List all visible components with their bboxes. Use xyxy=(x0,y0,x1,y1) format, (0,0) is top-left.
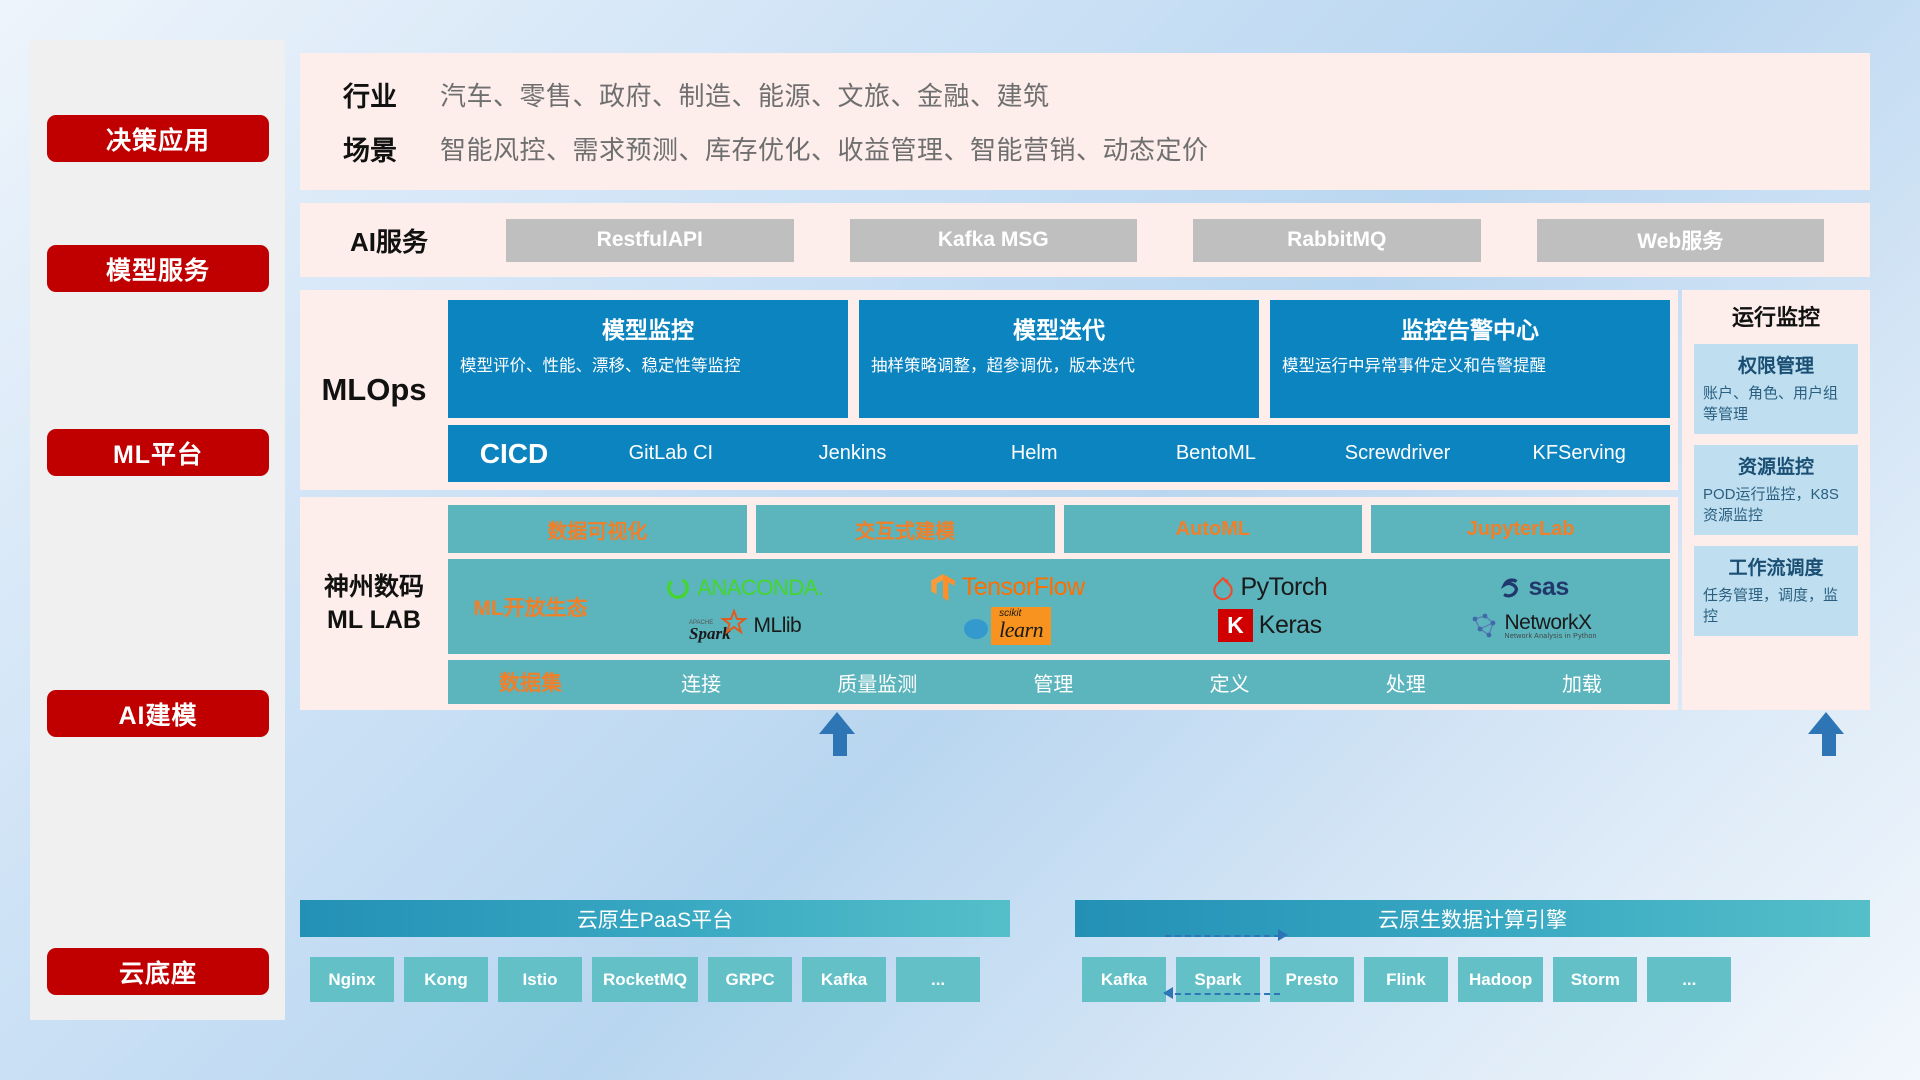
cloud-paas-header: 云原生PaaS平台 xyxy=(300,900,1010,937)
paas-chip-kafka[interactable]: Kafka xyxy=(802,957,886,1002)
paas-chip-rocketmq[interactable]: RocketMQ xyxy=(592,957,698,1002)
card-desc: POD运行监控，K8S资源监控 xyxy=(1703,484,1849,526)
data-chip-presto[interactable]: Presto xyxy=(1270,957,1354,1002)
monitor-card-resource[interactable]: 资源监控 POD运行监控，K8S资源监控 xyxy=(1694,445,1858,535)
dashed-arrow-right xyxy=(1165,935,1280,937)
data-chip-kafka[interactable]: Kafka xyxy=(1082,957,1166,1002)
paas-chip-more[interactable]: ... xyxy=(896,957,980,1002)
rail-item-ml-platform[interactable]: ML平台 xyxy=(47,429,269,476)
industry-scenario-band: 行业 汽车、零售、政府、制造、能源、文旅、金融、建筑 场景 智能风控、需求预测、… xyxy=(300,53,1870,190)
monitor-card-workflow[interactable]: 工作流调度 任务管理，调度，监控 xyxy=(1694,546,1858,636)
mlops-band: MLOps 模型监控 模型评价、性能、漂移、稳定性等监控 模型迭代 抽样策略调整… xyxy=(300,290,1678,490)
card-desc: 抽样策略调整，超参调优，版本迭代 xyxy=(871,355,1247,378)
cicd-item-helm[interactable]: Helm xyxy=(943,439,1125,468)
card-desc: 模型评价、性能、漂移、稳定性等监控 xyxy=(460,355,836,378)
rail-item-model-service[interactable]: 模型服务 xyxy=(47,245,269,292)
cicd-item-gitlab-ci[interactable]: GitLab CI xyxy=(580,439,762,468)
arrow-up-paas-icon xyxy=(819,712,855,734)
sas-logo-text: sas xyxy=(1529,573,1569,602)
paas-chip-nginx[interactable]: Nginx xyxy=(310,957,394,1002)
ml-ecosystem-label: ML开放生态 xyxy=(448,592,613,622)
dataset-item-manage[interactable]: 管理 xyxy=(965,668,1141,697)
paas-chip-grpc[interactable]: GRPC xyxy=(708,957,792,1002)
cloud-base-section: 云原生PaaS平台 云原生数据计算引擎 Nginx Kong Istio Roc… xyxy=(300,880,1900,1080)
card-title: 资源监控 xyxy=(1703,452,1849,479)
mlops-card-model-monitoring[interactable]: 模型监控 模型评价、性能、漂移、稳定性等监控 xyxy=(448,300,848,418)
rail-label: 云底座 xyxy=(119,954,197,990)
scikit-learn-logo: scikit learn xyxy=(963,607,1051,645)
data-chip-spark[interactable]: Spark xyxy=(1176,957,1260,1002)
ml-lab-body: 数据可视化 交互式建模 AutoML JupyterLab ML开放生态 ANA… xyxy=(448,497,1678,710)
main-content: 行业 汽车、零售、政府、制造、能源、文旅、金融、建筑 场景 智能风控、需求预测、… xyxy=(300,0,1900,1080)
industry-key: 行业 xyxy=(300,75,440,114)
ml-ecosystem-panel: ML开放生态 ANACONDA. TensorFlow xyxy=(448,559,1670,654)
dataset-bar: 数据集 连接 质量监测 管理 定义 处理 加载 xyxy=(448,660,1670,704)
card-desc: 账户、角色、用户组等管理 xyxy=(1703,383,1849,425)
mllib-logo-text: MLlib xyxy=(754,614,802,638)
dataset-item-process[interactable]: 处理 xyxy=(1318,668,1494,697)
cicd-item-kfserving[interactable]: KFServing xyxy=(1488,439,1670,468)
card-title: 权限管理 xyxy=(1703,351,1849,378)
spark-mllib-logo: APACHE Spark MLlib xyxy=(688,609,802,643)
ml-ecosystem-logo-grid: ANACONDA. TensorFlow xyxy=(613,569,1670,645)
keras-logo: K Keras xyxy=(1218,609,1321,642)
ml-lab-label: 神州数码 ML LAB xyxy=(300,497,448,710)
scenario-value: 智能风控、需求预测、库存优化、收益管理、智能营销、动态定价 xyxy=(440,130,1209,167)
left-rail: 决策应用 模型服务 ML平台 AI建模 云底座 xyxy=(30,40,285,1020)
ai-chip-rabbitmq[interactable]: RabbitMQ xyxy=(1193,219,1481,262)
mlops-card-model-iteration[interactable]: 模型迭代 抽样策略调整，超参调优，版本迭代 xyxy=(859,300,1259,418)
runtime-monitor-title: 运行监控 xyxy=(1694,300,1858,332)
anaconda-logo: ANACONDA. xyxy=(665,575,823,601)
lab-tool-automl[interactable]: AutoML xyxy=(1064,505,1363,553)
paas-chip-list: Nginx Kong Istio RocketMQ GRPC Kafka ... xyxy=(310,957,980,1002)
cicd-item-screwdriver[interactable]: Screwdriver xyxy=(1307,439,1489,468)
lab-tool-data-visualization[interactable]: 数据可视化 xyxy=(448,505,747,553)
lab-tool-jupyterlab[interactable]: JupyterLab xyxy=(1371,505,1670,553)
scenario-row: 场景 智能风控、需求预测、库存优化、收益管理、智能营销、动态定价 xyxy=(300,121,1870,175)
dataset-item-quality-monitor[interactable]: 质量监测 xyxy=(789,668,965,697)
card-title: 监控告警中心 xyxy=(1282,311,1658,345)
data-chip-more[interactable]: ... xyxy=(1647,957,1731,1002)
dashed-arrow-left xyxy=(1165,993,1280,995)
data-chip-flink[interactable]: Flink xyxy=(1364,957,1448,1002)
cicd-title: CICD xyxy=(448,438,580,470)
pytorch-logo: PyTorch xyxy=(1212,573,1327,602)
dataset-item-define[interactable]: 定义 xyxy=(1142,668,1318,697)
cicd-bar: CICD GitLab CI Jenkins Helm BentoML Scre… xyxy=(448,425,1670,482)
ai-chip-kafka-msg[interactable]: Kafka MSG xyxy=(850,219,1138,262)
arrow-up-data-engine-stem xyxy=(1822,732,1836,756)
scikit-learn-logo-text: learn xyxy=(999,617,1043,642)
card-desc: 任务管理，调度，监控 xyxy=(1703,585,1849,627)
rail-label: 决策应用 xyxy=(106,121,210,157)
card-desc: 模型运行中异常事件定义和告警提醒 xyxy=(1282,355,1658,378)
ai-chip-web-service[interactable]: Web服务 xyxy=(1537,219,1825,262)
arrow-up-paas-stem xyxy=(833,732,847,756)
dashed-arrow-left-head-icon xyxy=(1163,987,1173,999)
rail-item-cloud-base[interactable]: 云底座 xyxy=(47,948,269,995)
ai-chip-restfulapi[interactable]: RestfulAPI xyxy=(506,219,794,262)
scenario-key: 场景 xyxy=(300,129,440,168)
pytorch-logo-text: PyTorch xyxy=(1240,573,1327,602)
cicd-item-jenkins[interactable]: Jenkins xyxy=(762,439,944,468)
data-chip-hadoop[interactable]: Hadoop xyxy=(1458,957,1543,1002)
keras-logo-text: Keras xyxy=(1259,611,1322,640)
scikit-learn-logo-badge: scikit learn xyxy=(991,607,1051,645)
rail-label: 模型服务 xyxy=(106,251,210,287)
sas-logo: sas xyxy=(1497,573,1569,602)
industry-value: 汽车、零售、政府、制造、能源、文旅、金融、建筑 xyxy=(440,76,1050,113)
rail-label: ML平台 xyxy=(113,435,203,471)
anaconda-logo-text: ANACONDA. xyxy=(697,575,823,601)
paas-chip-kong[interactable]: Kong xyxy=(404,957,488,1002)
ml-lab-label-line2: ML LAB xyxy=(327,604,421,637)
networkx-logo-text: NetworkX xyxy=(1505,612,1597,633)
cloud-data-engine-header: 云原生数据计算引擎 xyxy=(1075,900,1870,937)
dataset-item-connect[interactable]: 连接 xyxy=(613,668,789,697)
ai-service-chip-list: RestfulAPI Kafka MSG RabbitMQ Web服务 xyxy=(478,219,1870,262)
svg-text:Spark: Spark xyxy=(689,624,731,643)
lab-tool-interactive-modeling[interactable]: 交互式建模 xyxy=(756,505,1055,553)
tensorflow-logo-text: TensorFlow xyxy=(962,573,1085,602)
monitor-card-permission[interactable]: 权限管理 账户、角色、用户组等管理 xyxy=(1694,344,1858,434)
dashed-arrow-right-head-icon xyxy=(1278,929,1288,941)
runtime-monitor-panel: 运行监控 权限管理 账户、角色、用户组等管理 资源监控 POD运行监控，K8S资… xyxy=(1682,290,1870,710)
data-chip-storm[interactable]: Storm xyxy=(1553,957,1637,1002)
rail-item-ai-modeling[interactable]: AI建模 xyxy=(47,690,269,737)
card-title: 模型迭代 xyxy=(871,311,1247,345)
data-engine-chip-list: Kafka Spark Presto Flink Hadoop Storm ..… xyxy=(1082,957,1731,1002)
paas-chip-istio[interactable]: Istio xyxy=(498,957,582,1002)
networkx-logo-tagline: Network Analysis in Python xyxy=(1505,633,1597,640)
networkx-logo: NetworkX Network Analysis in Python xyxy=(1469,612,1597,640)
dataset-label: 数据集 xyxy=(448,667,613,697)
ai-service-band: AI服务 RestfulAPI Kafka MSG RabbitMQ Web服务 xyxy=(300,203,1870,277)
rail-label: AI建模 xyxy=(118,696,197,732)
keras-logo-mark: K xyxy=(1218,609,1253,642)
mlops-body: 模型监控 模型评价、性能、漂移、稳定性等监控 模型迭代 抽样策略调整，超参调优，… xyxy=(448,290,1678,490)
mlops-card-alert-center[interactable]: 监控告警中心 模型运行中异常事件定义和告警提醒 xyxy=(1270,300,1670,418)
card-title: 工作流调度 xyxy=(1703,553,1849,580)
industry-row: 行业 汽车、零售、政府、制造、能源、文旅、金融、建筑 xyxy=(300,67,1870,121)
ai-service-label: AI服务 xyxy=(300,222,478,259)
tensorflow-logo: TensorFlow xyxy=(930,573,1085,603)
card-title: 模型监控 xyxy=(460,311,836,345)
rail-item-decision-app[interactable]: 决策应用 xyxy=(47,115,269,162)
ml-lab-label-line1: 神州数码 xyxy=(324,571,424,604)
ml-lab-tool-list: 数据可视化 交互式建模 AutoML JupyterLab xyxy=(448,505,1670,553)
mlops-card-list: 模型监控 模型评价、性能、漂移、稳定性等监控 模型迭代 抽样策略调整，超参调优，… xyxy=(448,300,1670,418)
mlops-label: MLOps xyxy=(300,290,448,490)
arrow-up-data-engine-icon xyxy=(1808,712,1844,734)
cicd-item-bentoml[interactable]: BentoML xyxy=(1125,439,1307,468)
dataset-item-load[interactable]: 加载 xyxy=(1494,668,1670,697)
ml-lab-band: 神州数码 ML LAB 数据可视化 交互式建模 AutoML JupyterLa… xyxy=(300,497,1678,710)
